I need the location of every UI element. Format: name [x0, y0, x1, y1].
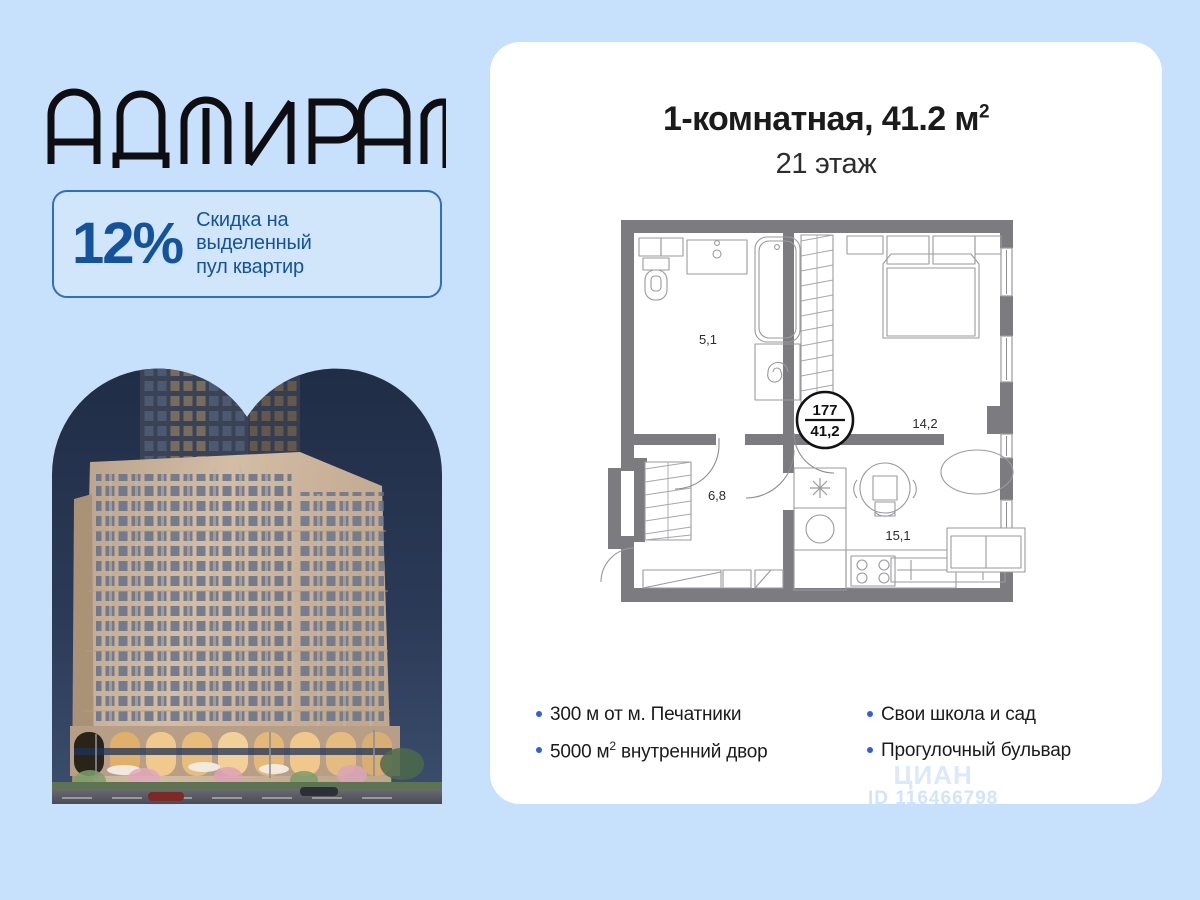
bullet-dot-icon — [536, 747, 542, 753]
apartment-info-card: 1-комнатная, 41.2 м2 21 этаж — [490, 42, 1162, 804]
feature-text: Свои школа и сад — [881, 702, 1036, 727]
watermark: ЦИАН ID 116466798 — [868, 762, 998, 809]
discount-line-1: Скидка на — [196, 209, 312, 233]
list-item: 5000 м2 внутренний двор — [536, 738, 851, 765]
features-list: 300 м от м. Печатники 5000 м2 внутренний… — [536, 702, 1166, 776]
bullet-dot-icon — [536, 711, 542, 717]
feature-text-after: внутренний двор — [616, 742, 768, 763]
list-item: Свои школа и сад — [867, 702, 1166, 727]
discount-badge: 12% Скидка на выделенный пул квартир — [52, 190, 442, 298]
badge-area: 41,2 — [810, 423, 839, 440]
discount-line-3: пул квартир — [196, 256, 312, 280]
feature-text-before: 5000 м — [550, 742, 609, 763]
promo-panel: 12% Скидка на выделенный пул квартир — [0, 0, 490, 900]
discount-description: Скидка на выделенный пул квартир — [196, 209, 312, 280]
list-item: 300 м от м. Печатники — [536, 702, 851, 727]
bullet-dot-icon — [867, 747, 873, 753]
features-column-left: 300 м от м. Печатники 5000 м2 внутренний… — [536, 702, 851, 776]
brand-logo — [46, 84, 446, 168]
badge-number: 177 — [812, 402, 837, 419]
room-area-hallway: 6,8 — [708, 488, 726, 503]
floor-subtitle: 21 этаж — [490, 148, 1162, 181]
plan-title-text: 1-комнатная, 41.2 м — [663, 100, 979, 138]
watermark-brand: ЦИАН — [868, 762, 998, 789]
apartment-number-badge: 177 41,2 — [797, 392, 853, 448]
feature-text: 5000 м2 внутренний двор — [550, 738, 768, 765]
admiral-logotype-icon — [46, 84, 446, 168]
discount-percent: 12% — [72, 215, 182, 273]
floorplan-drawing[interactable]: 5,1 14,2 6,8 15,1 177 41,2 — [595, 210, 1055, 640]
page-title: 1-комнатная, 41.2 м2 — [490, 100, 1162, 139]
room-area-kitchen-living: 15,1 — [885, 528, 910, 543]
discount-line-2: выделенный — [196, 232, 312, 256]
plan-title-superscript: 2 — [979, 102, 989, 123]
feature-text: 300 м от м. Печатники — [550, 702, 741, 727]
watermark-listing-id: ID 116466798 — [868, 789, 998, 809]
building-render-photo — [52, 334, 442, 804]
room-area-bathroom: 5,1 — [699, 332, 717, 347]
room-area-bedroom: 14,2 — [912, 416, 937, 431]
bullet-dot-icon — [867, 711, 873, 717]
